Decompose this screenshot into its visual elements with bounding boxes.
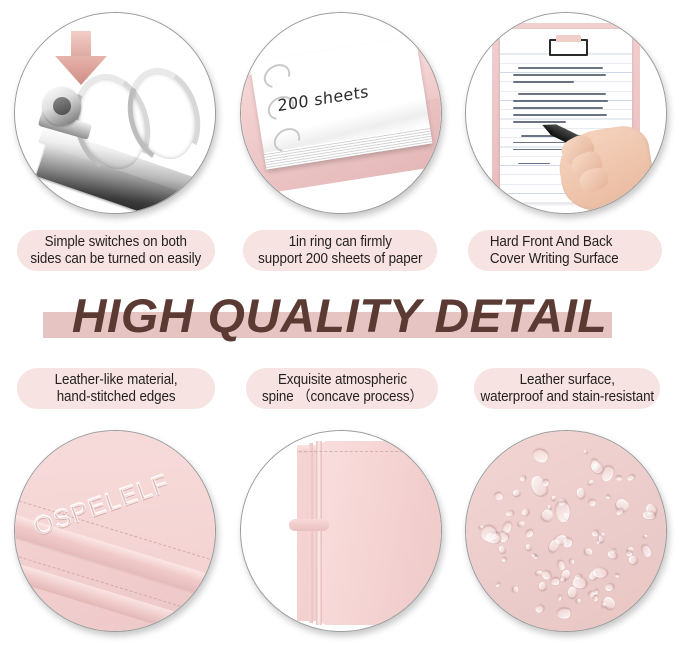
water-droplet	[560, 577, 565, 582]
water-droplet	[601, 532, 606, 537]
water-droplet	[568, 587, 577, 598]
page-title: HIGH QUALITY DETAIL	[0, 285, 679, 347]
paper-capacity-photo: 200 sheets	[240, 12, 442, 214]
water-droplet	[626, 473, 635, 481]
spine-scene	[241, 431, 441, 631]
caption-text: Leather surface, waterproof and stain-re…	[480, 372, 654, 405]
water-droplet	[547, 504, 551, 509]
water-droplet	[521, 507, 530, 516]
water-droplet	[643, 535, 647, 539]
water-droplet	[526, 530, 534, 538]
water-droplet	[493, 492, 502, 500]
caption-pill-writing-surface: Hard Front And Back Cover Writing Surfac…	[468, 230, 662, 271]
water-droplet	[570, 559, 575, 565]
spine-groove-outer	[309, 443, 313, 623]
caption-text: 1in ring can firmly support 200 sheets o…	[258, 234, 422, 267]
water-droplet	[583, 450, 587, 454]
caption-text: Simple switches on both sides can be tur…	[31, 234, 202, 267]
water-droplet	[499, 546, 507, 554]
water-droplet	[525, 544, 531, 551]
water-droplet	[534, 604, 544, 614]
spine-tab	[289, 519, 329, 531]
writing-scene	[466, 13, 666, 213]
water-droplet	[518, 521, 525, 527]
sheet-scene: 200 sheets	[241, 13, 441, 213]
water-droplet	[505, 511, 513, 517]
water-droplet	[594, 595, 598, 600]
water-droplet	[551, 578, 560, 586]
water-droplet	[519, 475, 525, 481]
paper-clip-bar	[549, 39, 589, 55]
water-droplet	[592, 567, 607, 579]
water-droplet	[557, 607, 571, 619]
infographic-root: 200 sheets	[0, 0, 679, 645]
waterproof-surface-photo	[465, 430, 667, 632]
binder-ring-mechanism-photo	[14, 12, 216, 214]
water-droplet	[593, 589, 599, 595]
water-droplet	[555, 502, 570, 523]
water-droplet	[528, 474, 549, 499]
water-droplet	[605, 584, 614, 593]
caption-pill-switches: Simple switches on both sides can be tur…	[17, 230, 215, 271]
water-droplet	[591, 530, 599, 538]
writing-surface-photo	[465, 12, 667, 214]
water-droplet	[643, 511, 656, 520]
water-droplet	[512, 586, 518, 593]
caption-pill-leather-material: Leather-like material, hand-stitched edg…	[17, 368, 215, 409]
water-droplet	[532, 448, 550, 464]
water-droplet	[558, 595, 562, 600]
water-droplet	[576, 599, 581, 604]
water-droplet	[627, 555, 638, 566]
water-droplet	[542, 479, 549, 486]
water-droplet	[512, 489, 520, 497]
water-droplet	[640, 544, 653, 558]
spine-concave-groove	[316, 441, 322, 625]
water-droplet	[551, 496, 556, 500]
lever-switch	[43, 87, 81, 125]
embossed-logo-photo: OSPELELF	[14, 430, 216, 632]
water-droplet	[615, 476, 621, 481]
spine-front-panel	[321, 441, 441, 625]
caption-text: Leather-like material, hand-stitched edg…	[55, 372, 178, 405]
caption-pill-spine: Exquisite atmospheric spine （concave pro…	[246, 368, 438, 409]
caption-text: Hard Front And Back Cover Writing Surfac…	[490, 234, 619, 267]
water-droplet	[587, 479, 593, 485]
headline-banner: HIGH QUALITY DETAIL	[0, 285, 679, 355]
ring-scene	[15, 13, 215, 213]
water-droplet	[584, 549, 592, 556]
logo-scene: OSPELELF	[15, 431, 215, 631]
down-arrow-icon	[55, 31, 107, 85]
concave-spine-photo	[240, 430, 442, 632]
caption-text: Exquisite atmospheric spine （concave pro…	[262, 372, 423, 405]
water-droplet	[615, 573, 620, 578]
water-droplet	[589, 500, 596, 507]
water-droplet	[575, 487, 586, 499]
water-droplet	[606, 549, 618, 560]
caption-pill-capacity: 1in ring can firmly support 200 sheets o…	[243, 230, 437, 271]
water-droplet	[540, 507, 555, 522]
water-droplet	[495, 583, 500, 588]
spine-top-stitching	[299, 451, 439, 452]
water-droplet	[501, 558, 506, 563]
water-droplet	[606, 495, 610, 499]
caption-pill-waterproof: Leather surface, waterproof and stain-re…	[474, 368, 660, 409]
water-droplet	[538, 581, 546, 590]
droplet-scene	[466, 431, 666, 631]
